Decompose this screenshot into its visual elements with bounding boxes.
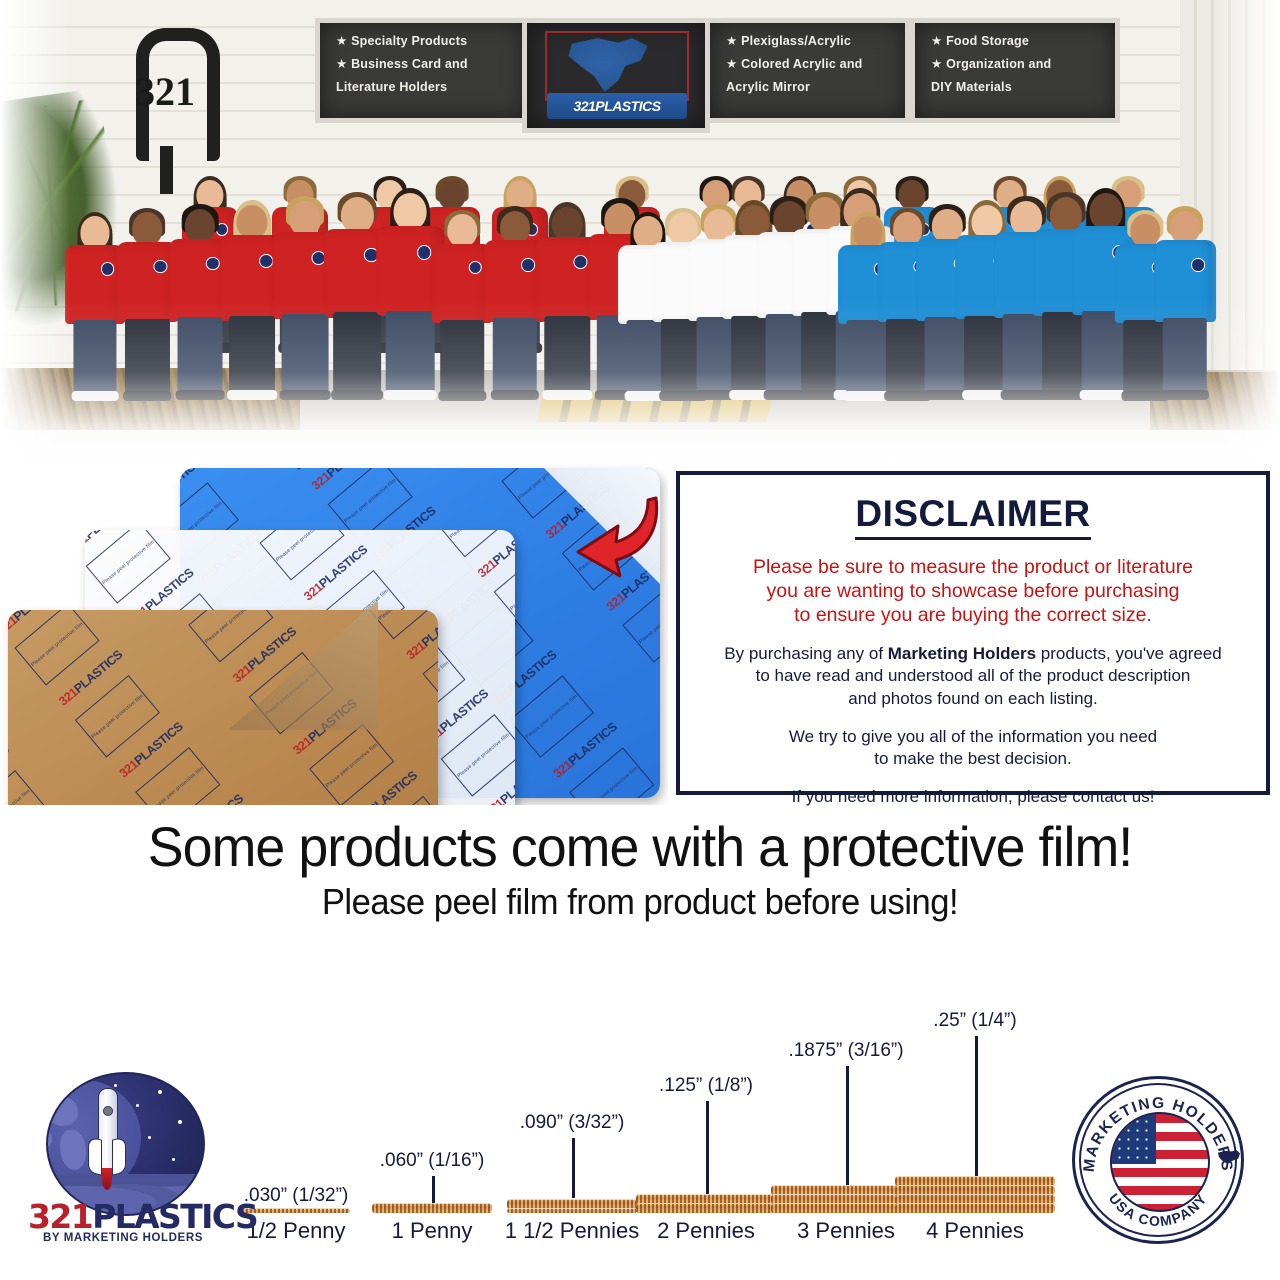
head (341, 197, 373, 233)
wall-rocket-sign: 321 (120, 28, 210, 168)
rocket-icon (90, 1088, 124, 1192)
disclaimer-box: DISCLAIMER Please be sure to measure the… (676, 471, 1270, 795)
sign-line: ★ Plexiglass/Acrylic (726, 32, 905, 50)
logo-part-plastics: PLASTICS (92, 1197, 257, 1236)
logo-321plastics: 321PLASTICS BY MARKETING HOLDERS (28, 1072, 218, 1247)
penny-coin (372, 1203, 492, 1213)
red-line: to ensure you are buying the correct siz… (794, 604, 1152, 626)
shirt-logo-icon (259, 254, 273, 268)
banner-321plastics: 321PLASTICS (547, 93, 687, 119)
team-photo: 321 ★ Specialty Products ★ Business Card… (0, 0, 1280, 460)
shirt-logo-icon (469, 261, 482, 274)
head (500, 211, 530, 245)
penny-stack (372, 1203, 492, 1212)
disclaimer-paragraph-4: If you need more information, please con… (696, 786, 1250, 808)
window-center-banner: 321PLASTICS (522, 18, 710, 133)
para2-line2: to have read and understood all of the p… (756, 666, 1191, 685)
headline-secondary: Please peel film from product before usi… (26, 881, 1255, 923)
usa-map-graphic (545, 31, 689, 101)
para3-line1: We try to give you all of the informatio… (789, 727, 1157, 746)
red-arrow-icon (560, 490, 668, 600)
head (133, 212, 163, 245)
head (80, 216, 109, 249)
logo-wordmark: 321PLASTICS (28, 1200, 218, 1233)
disclaimer-paragraph-2: By purchasing any of Marketing Holders p… (696, 643, 1250, 709)
headline-primary: Some products come with a protective fil… (26, 818, 1255, 877)
svg-text:USA COMPANY: USA COMPANY (1106, 1190, 1211, 1229)
window-sign-plexiglass: ★ Plexiglass/Acrylic ★ Colored Acrylic a… (705, 18, 910, 123)
logo-marketing-holders-seal: MARKETING HOLDERS USA COMPANY (1072, 1076, 1244, 1244)
thickness-label: .125” (1/8”) (659, 1075, 753, 1097)
leader-line (846, 1066, 849, 1185)
acrylic-sheets-image: 321PLASTICSPlease peel protective film32… (0, 460, 668, 805)
sign-line: Acrylic Mirror (726, 78, 905, 96)
thickness-label: .060” (1/16”) (380, 1150, 485, 1172)
seal-top-text: MARKETING HOLDERS (1081, 1095, 1236, 1173)
sign-line: ★ Specialty Products (336, 32, 525, 50)
seal-text: MARKETING HOLDERS USA COMPANY (1072, 1076, 1244, 1244)
leader-line (572, 1138, 575, 1198)
logo-part-321: 321 (28, 1197, 92, 1236)
head (237, 205, 268, 240)
shirt-logo-icon (101, 262, 114, 275)
sign-line: DIY Materials (931, 78, 1115, 96)
leader-line (706, 1101, 709, 1194)
penny-coin-half (242, 1208, 350, 1213)
penny-stack (507, 1199, 637, 1212)
head (394, 193, 427, 230)
sign-line: ★ Colored Acrylic and (726, 55, 905, 73)
red-line: you are wanting to showcase before purch… (766, 580, 1179, 602)
sign-line: ★ Business Card and (336, 55, 525, 73)
penny-stack (242, 1208, 350, 1212)
window-sign-food-storage: ★ Food Storage ★ Organization and DIY Ma… (910, 18, 1120, 123)
head (289, 201, 321, 236)
photo-left-fade (0, 0, 70, 460)
head (1170, 211, 1200, 245)
penny-count-label: 3 Pennies (797, 1218, 895, 1244)
svg-text:MARKETING HOLDERS: MARKETING HOLDERS (1081, 1095, 1236, 1173)
penny-coin (895, 1203, 1055, 1213)
para2-pre: By purchasing any of (724, 644, 887, 663)
sign-line: ★ Organization and (931, 55, 1115, 73)
sign-line: ★ Food Storage (931, 32, 1115, 50)
penny-count-label: 4 Pennies (926, 1218, 1024, 1244)
penny-count-label: 1 1/2 Pennies (505, 1218, 640, 1244)
leader-line (432, 1176, 435, 1203)
disclaimer-heading: DISCLAIMER (855, 493, 1090, 540)
penny-stack (636, 1194, 776, 1212)
headline-block: Some products come with a protective fil… (0, 818, 1280, 923)
shirt-logo-icon (417, 245, 432, 260)
thickness-label: .1875” (3/16”) (788, 1040, 903, 1062)
disclaimer-paragraph-3: We try to give you all of the informatio… (696, 726, 1250, 770)
leader-line (975, 1036, 978, 1176)
penny-coin (636, 1203, 776, 1213)
penny-coin-half (507, 1208, 637, 1213)
shirt-logo-icon (154, 260, 167, 273)
logo-subtitle: BY MARKETING HOLDERS (28, 1232, 218, 1244)
photo-bottom-fade (0, 300, 1280, 460)
shirt-logo-icon (521, 258, 534, 271)
red-line: Please be sure to measure the product or… (753, 556, 1193, 578)
para3-line2: to make the best decision. (874, 749, 1072, 768)
penny-stack (895, 1176, 1055, 1212)
shirt-logo-icon (1191, 258, 1204, 271)
seal-bottom-text: USA COMPANY (1106, 1190, 1211, 1229)
sign-line: Literature Holders (336, 78, 525, 96)
penny-count-label: 2 Pennies (657, 1218, 755, 1244)
head (552, 207, 583, 241)
window-sign-specialty: ★ Specialty Products ★ Business Card and… (315, 18, 530, 123)
penny-count-label: 1 Penny (392, 1218, 473, 1244)
shirt-logo-icon (574, 255, 588, 269)
thickness-label: .030” (1/32”) (244, 1185, 349, 1207)
para2-post: products, you've agreed (1036, 644, 1222, 663)
photo-right-fade (1210, 0, 1280, 460)
penny-count-label: 1/2 Penny (246, 1218, 345, 1244)
head (448, 214, 477, 247)
thickness-label: .090” (3/32”) (520, 1112, 625, 1134)
wall-sign-number: 321 (120, 68, 210, 115)
thickness-label: .25” (1/4”) (933, 1010, 1016, 1032)
shirt-logo-icon (206, 257, 220, 271)
head (185, 209, 215, 243)
para2-line3: and photos found on each listing. (848, 689, 1098, 708)
disclaimer-red-text: Please be sure to measure the product or… (696, 556, 1250, 627)
brand-name: Marketing Holders (888, 644, 1036, 663)
